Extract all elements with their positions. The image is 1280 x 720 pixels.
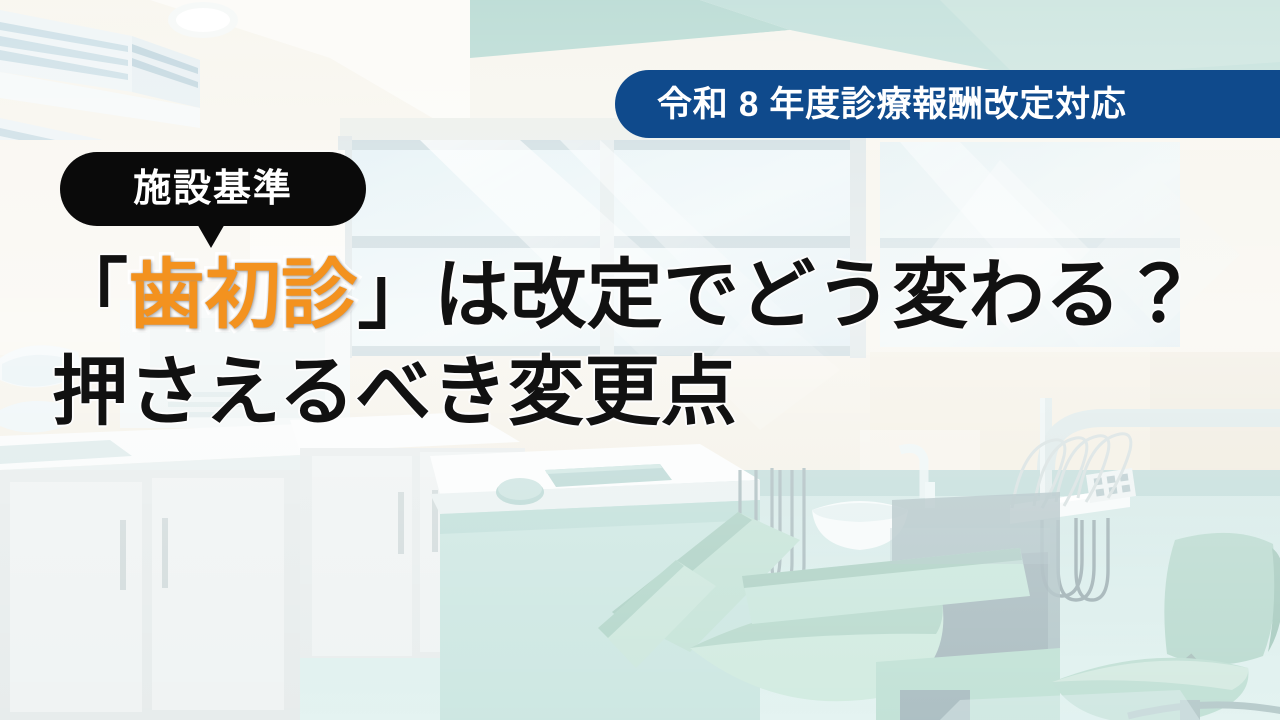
poster-canvas: 令和 8 年度診療報酬改定対応 施設基準 「歯初診」は改定でどう変わる？ 押さえ… — [0, 0, 1280, 720]
headline-line-2: 押さえるべき変更点 — [52, 344, 1252, 441]
headline-line-2-text: 押さえるべき変更点 — [52, 350, 737, 435]
headline-line-1: 「歯初診」は改定でどう変わる？ — [52, 247, 1252, 344]
headline-block: 「歯初診」は改定でどう変わる？ 押さえるべき変更点 — [52, 247, 1252, 442]
headline-open-bracket: 「 — [52, 253, 128, 338]
mouse — [496, 478, 544, 505]
category-badge-tail-icon — [196, 222, 226, 248]
category-badge-label: 施設基準 — [133, 170, 293, 208]
wall-cabinet — [890, 528, 1050, 564]
category-badge: 施設基準 — [60, 152, 366, 226]
headline-accent-term: 歯初診 — [128, 253, 357, 338]
ribbon-badge: 令和 8 年度診療報酬改定対応 — [615, 70, 1280, 138]
headline-line-1-rest: は改定でどう変わる？ — [434, 253, 1198, 338]
ribbon-label: 令和 8 年度診療報酬改定対応 — [657, 87, 1126, 122]
category-badge-pill: 施設基準 — [60, 152, 366, 226]
headline-close-bracket: 」 — [358, 253, 434, 338]
recessed-ceiling-light — [168, 2, 238, 38]
